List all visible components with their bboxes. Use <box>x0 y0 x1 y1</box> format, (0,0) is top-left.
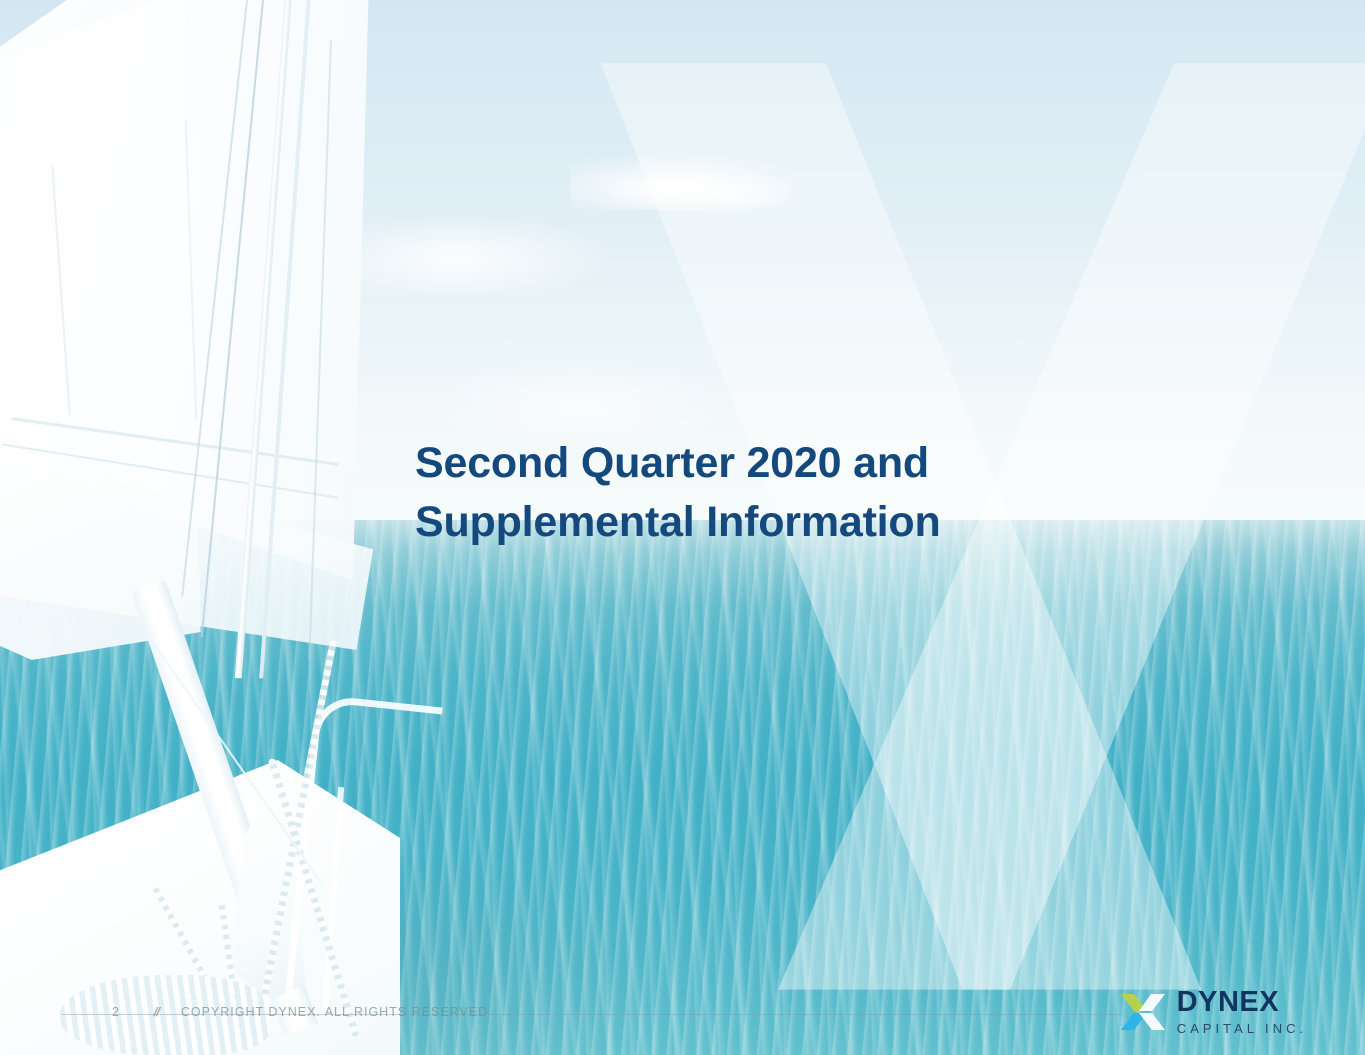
cloud-shape <box>330 215 610 295</box>
logo-tagline: CAPITAL INC. <box>1177 1022 1307 1035</box>
footer-separator-icon: // <box>152 1005 160 1019</box>
page-title: Second Quarter 2020 and Supplemental Inf… <box>415 434 1035 553</box>
footer: 2 // COPYRIGHT DYNEX. ALL RIGHTS RESERVE… <box>112 1005 488 1019</box>
copyright-text: COPYRIGHT DYNEX. ALL RIGHTS RESERVED <box>181 1005 488 1019</box>
logo-company-name: DYNEX <box>1177 988 1307 1017</box>
cloud-shape <box>600 170 790 215</box>
dynex-logo: DYNEX CAPITAL INC. <box>1120 988 1307 1035</box>
title-line-1: Second Quarter 2020 and <box>415 434 1035 493</box>
page-number: 2 <box>112 1005 120 1019</box>
dynex-wordmark: DYNEX CAPITAL INC. <box>1177 988 1307 1035</box>
title-slide: Second Quarter 2020 and Supplemental Inf… <box>0 0 1365 1055</box>
title-line-2: Supplemental Information <box>415 493 1035 552</box>
dynex-x-logomark-icon <box>1120 991 1166 1033</box>
